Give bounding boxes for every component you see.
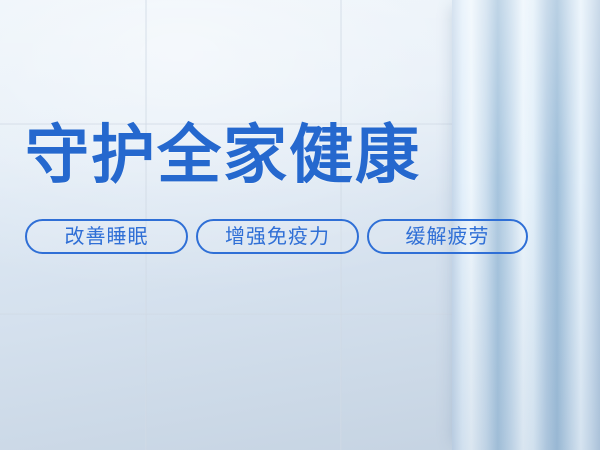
- benefit-tag-boost-immunity[interactable]: 增强免疫力: [196, 219, 359, 254]
- promo-banner: 守护全家健康 改善睡眠 增强免疫力 缓解疲劳: [0, 0, 600, 450]
- benefit-tag-relieve-fatigue[interactable]: 缓解疲劳: [367, 219, 528, 254]
- benefit-tag-row: 改善睡眠 增强免疫力 缓解疲劳: [25, 219, 528, 254]
- benefit-tag-improve-sleep[interactable]: 改善睡眠: [25, 219, 188, 254]
- banner-content: 守护全家健康 改善睡眠 增强免疫力 缓解疲劳: [25, 0, 575, 450]
- banner-headline: 守护全家健康: [25, 122, 421, 190]
